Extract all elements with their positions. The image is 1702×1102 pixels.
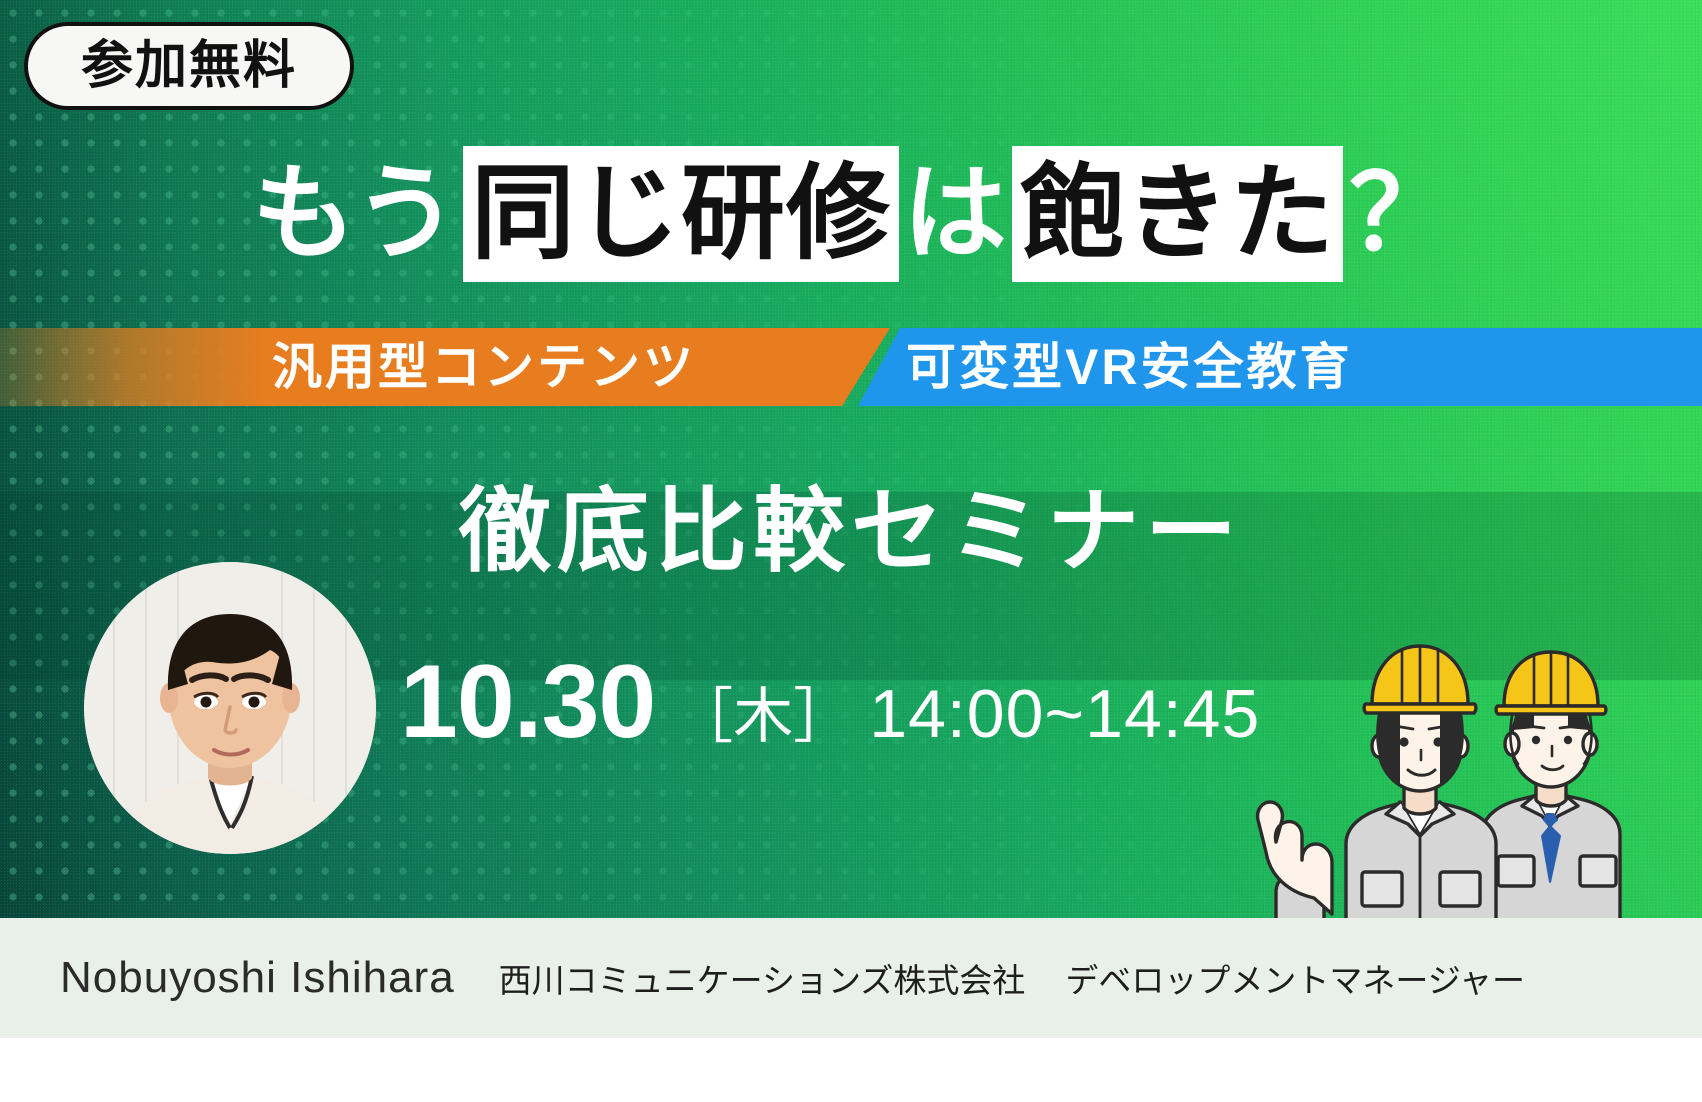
construction-workers-illustration — [1250, 620, 1650, 920]
free-admission-badge: 参加無料 — [24, 22, 354, 110]
seminar-banner: 参加無料 もう 同じ研修 は 飽きた ？ 汎用型コンテンツ 可変型VR安全教育 … — [0, 0, 1702, 1102]
seminar-date: 10.30 — [400, 650, 655, 754]
headline-part-1: もう — [248, 146, 463, 282]
headline-question-mark: ？ — [1343, 146, 1454, 282]
headline: もう 同じ研修 は 飽きた ？ — [0, 146, 1702, 282]
free-admission-label: 参加無料 — [81, 40, 297, 92]
speaker-info-bar: Nobuyoshi Ishihara 西川コミュニケーションズ株式会社 デベロッ… — [0, 918, 1702, 1038]
tag-label-variable-vr: 可変型VR安全教育 — [906, 328, 1352, 406]
headline-part-4-highlighted: 飽きた — [1012, 146, 1343, 282]
speaker-name: Nobuyoshi Ishihara — [60, 953, 455, 1003]
schedule-row: 10.30 ［木］ 14:00~14:45 — [400, 650, 1220, 760]
tag-label-generic-content: 汎用型コンテンツ — [272, 328, 696, 406]
speaker-photo-image — [84, 562, 376, 854]
seminar-time: 14:00~14:45 — [869, 680, 1260, 748]
comparison-tag-bar: 汎用型コンテンツ 可変型VR安全教育 — [0, 328, 1702, 406]
headline-part-3: は — [899, 146, 1012, 282]
workers-svg — [1250, 620, 1650, 920]
speaker-role: デベロップメントマネージャー — [1065, 954, 1525, 1002]
bottom-white-strip — [0, 1038, 1702, 1102]
speaker-company: 西川コミュニケーションズ株式会社 — [499, 954, 1026, 1002]
seminar-day-of-week: ［木］ — [673, 687, 853, 747]
headline-part-2-highlighted: 同じ研修 — [463, 146, 899, 282]
speaker-photo — [84, 562, 376, 854]
